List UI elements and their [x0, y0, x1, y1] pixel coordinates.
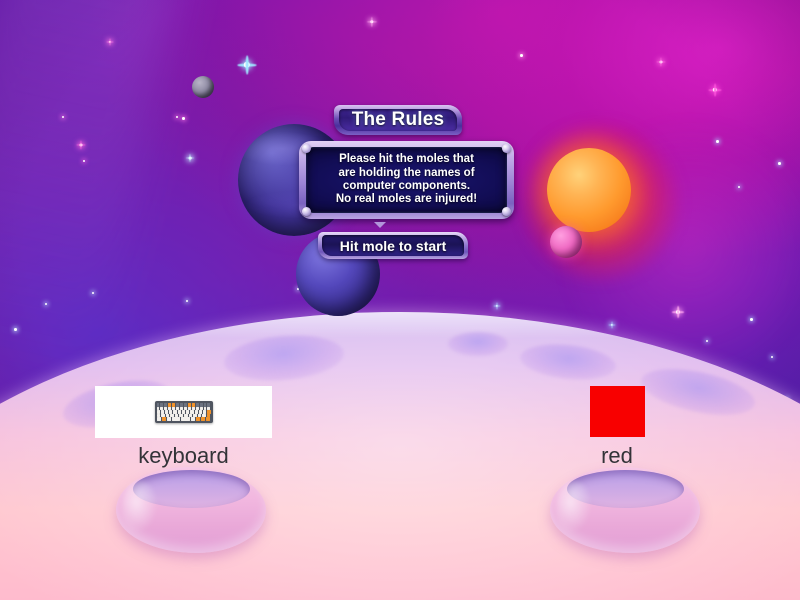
star-icon: [520, 54, 523, 57]
star-icon: [716, 140, 719, 143]
keyboard-row: [157, 417, 211, 421]
mole-hole-highlight: [556, 481, 592, 534]
star-icon: [609, 322, 616, 329]
star-icon: [107, 39, 114, 46]
star-icon: [672, 306, 684, 318]
rules-text-line: Please hit the moles that: [336, 153, 477, 166]
keyboard-key: [196, 417, 200, 421]
rules-panel-screen: Please hit the moles thatare holding the…: [306, 147, 507, 213]
crater: [448, 332, 508, 356]
star-icon: [14, 328, 17, 331]
rules-text-line: computer components.: [336, 180, 477, 193]
card-red-swatch[interactable]: [590, 386, 645, 437]
star-icon: [238, 56, 257, 75]
panel-bolt-top-right-icon: [502, 144, 511, 153]
page-title: The Rules: [352, 109, 445, 131]
star-icon: [182, 117, 185, 120]
keyboard-key: [157, 417, 161, 421]
gray-moon-icon: [192, 76, 214, 98]
mole-hole[interactable]: [116, 467, 266, 553]
keyboard-key: [172, 417, 181, 421]
keyboard-key: [206, 417, 210, 421]
panel-pointer-icon: [374, 222, 386, 228]
keyboard-key: [191, 417, 195, 421]
keyboard-key: [181, 417, 190, 421]
star-icon: [367, 17, 377, 27]
card-red-label: red: [556, 443, 678, 469]
keyboard-key: [201, 417, 205, 421]
mole-hole[interactable]: [550, 467, 700, 553]
keyboard-key: [167, 417, 171, 421]
panel-bolt-top-left-icon: [302, 144, 311, 153]
card-keyboard-label: keyboard: [95, 443, 272, 469]
rules-text-line: No real moles are injured!: [336, 193, 477, 206]
rules-text-line: are holding the names of: [336, 167, 477, 180]
panel-bolt-bottom-left-icon: [302, 207, 311, 216]
orange-sun-icon: [547, 148, 631, 232]
hit-mole-to-start-button[interactable]: Hit mole to start: [318, 232, 468, 259]
game-canvas: The Rules Please hit the moles thatare h…: [0, 0, 800, 600]
mole-hole-highlight: [122, 481, 158, 534]
star-icon: [77, 141, 86, 150]
rules-title-banner: The Rules: [334, 105, 462, 135]
rules-text: Please hit the moles thatare holding the…: [332, 153, 481, 207]
rules-panel: Please hit the moles thatare holding the…: [299, 141, 514, 219]
start-button-label: Hit mole to start: [340, 238, 447, 254]
star-icon: [657, 58, 666, 67]
star-icon: [186, 154, 194, 162]
star-icon: [494, 303, 501, 310]
keyboard-key: [162, 417, 166, 421]
star-icon: [709, 84, 722, 97]
star-icon: [778, 162, 781, 165]
panel-bolt-bottom-right-icon: [502, 207, 511, 216]
pink-moon-icon: [550, 226, 582, 258]
keyboard-icon: [155, 401, 213, 423]
star-icon: [750, 318, 753, 321]
card-keyboard-image[interactable]: [95, 386, 272, 438]
